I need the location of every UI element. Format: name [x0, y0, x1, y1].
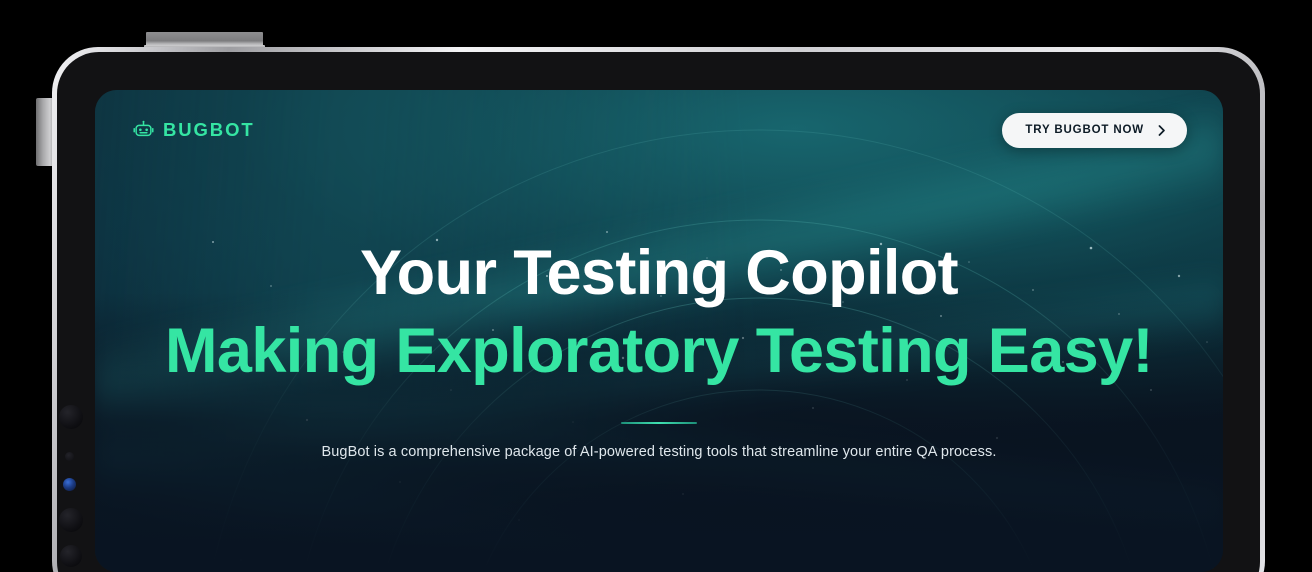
tablet-screen: BUGBOT TRY BUGBOT NOW Your Testing Copil… [95, 90, 1223, 572]
screenshot-canvas: BUGBOT TRY BUGBOT NOW Your Testing Copil… [0, 0, 1312, 572]
site-header: BUGBOT TRY BUGBOT NOW [95, 90, 1223, 170]
brand-logo[interactable]: BUGBOT [133, 119, 255, 141]
cta-label: TRY BUGBOT NOW [1025, 124, 1144, 136]
hero-divider [621, 422, 697, 425]
brand-name-label: BUGBOT [163, 119, 255, 141]
hero-subtitle: BugBot is a comprehensive package of AI-… [321, 444, 996, 460]
camera-lens-secondary-icon [59, 508, 83, 532]
flash-sensor-icon [63, 478, 76, 491]
hero-heading-accent: Making Exploratory Testing Easy! [165, 318, 1153, 385]
camera-lens-icon [59, 405, 83, 429]
chevron-right-icon [1155, 124, 1168, 137]
microphone-icon [60, 545, 82, 567]
try-bugbot-now-button[interactable]: TRY BUGBOT NOW [1002, 113, 1187, 148]
hero-section: Your Testing Copilot Making Exploratory … [95, 240, 1223, 460]
robot-head-icon [133, 120, 154, 141]
hero-heading-primary: Your Testing Copilot [360, 240, 958, 307]
tablet-antenna-band [146, 32, 263, 48]
ambient-sensor-icon [65, 452, 74, 461]
